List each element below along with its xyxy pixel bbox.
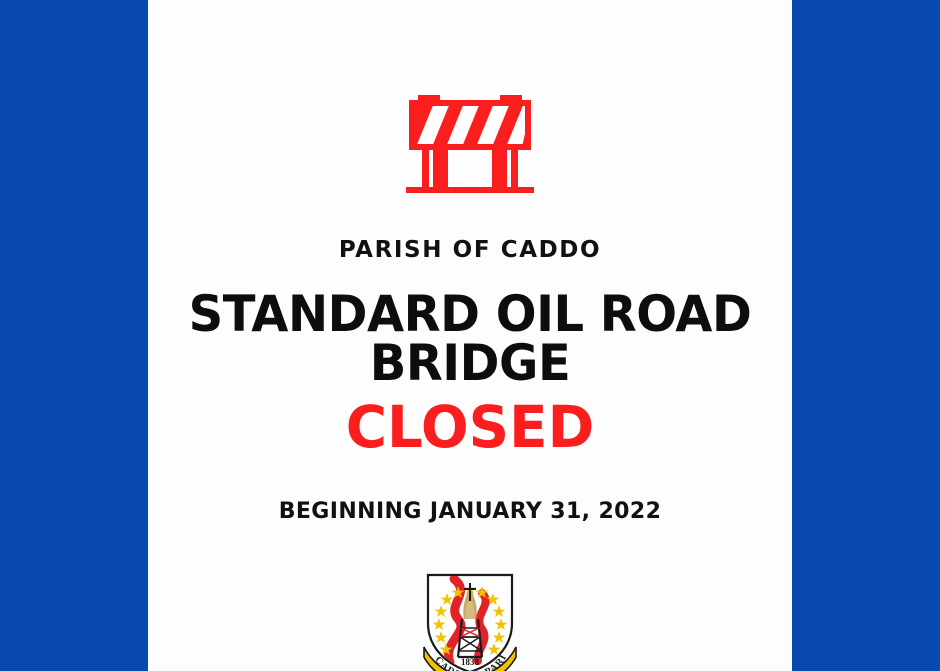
seal-year: 1838 <box>461 657 480 667</box>
page-title: STANDARD OIL ROAD BRIDGE <box>161 290 779 388</box>
blue-panel-left <box>0 0 148 671</box>
road-barricade-icon <box>400 95 540 195</box>
notice-graphic: PARISH OF CADDO STANDARD OIL ROAD BRIDGE… <box>0 0 940 671</box>
seal-container: CADDO PARISH 1838 <box>148 571 792 671</box>
notice-text-block: PARISH OF CADDO STANDARD OIL ROAD BRIDGE… <box>148 238 792 524</box>
status-badge: CLOSED <box>158 398 783 456</box>
barricade-icon-container <box>148 95 792 195</box>
caddo-parish-seal: CADDO PARISH 1838 <box>420 571 520 671</box>
blue-panel-right <box>792 0 940 671</box>
parish-eyebrow: PARISH OF CADDO <box>148 238 792 263</box>
headline-line-2: BRIDGE <box>370 334 571 392</box>
notice-card: PARISH OF CADDO STANDARD OIL ROAD BRIDGE… <box>148 0 792 671</box>
effective-date: BEGINNING JANUARY 31, 2022 <box>148 500 792 524</box>
